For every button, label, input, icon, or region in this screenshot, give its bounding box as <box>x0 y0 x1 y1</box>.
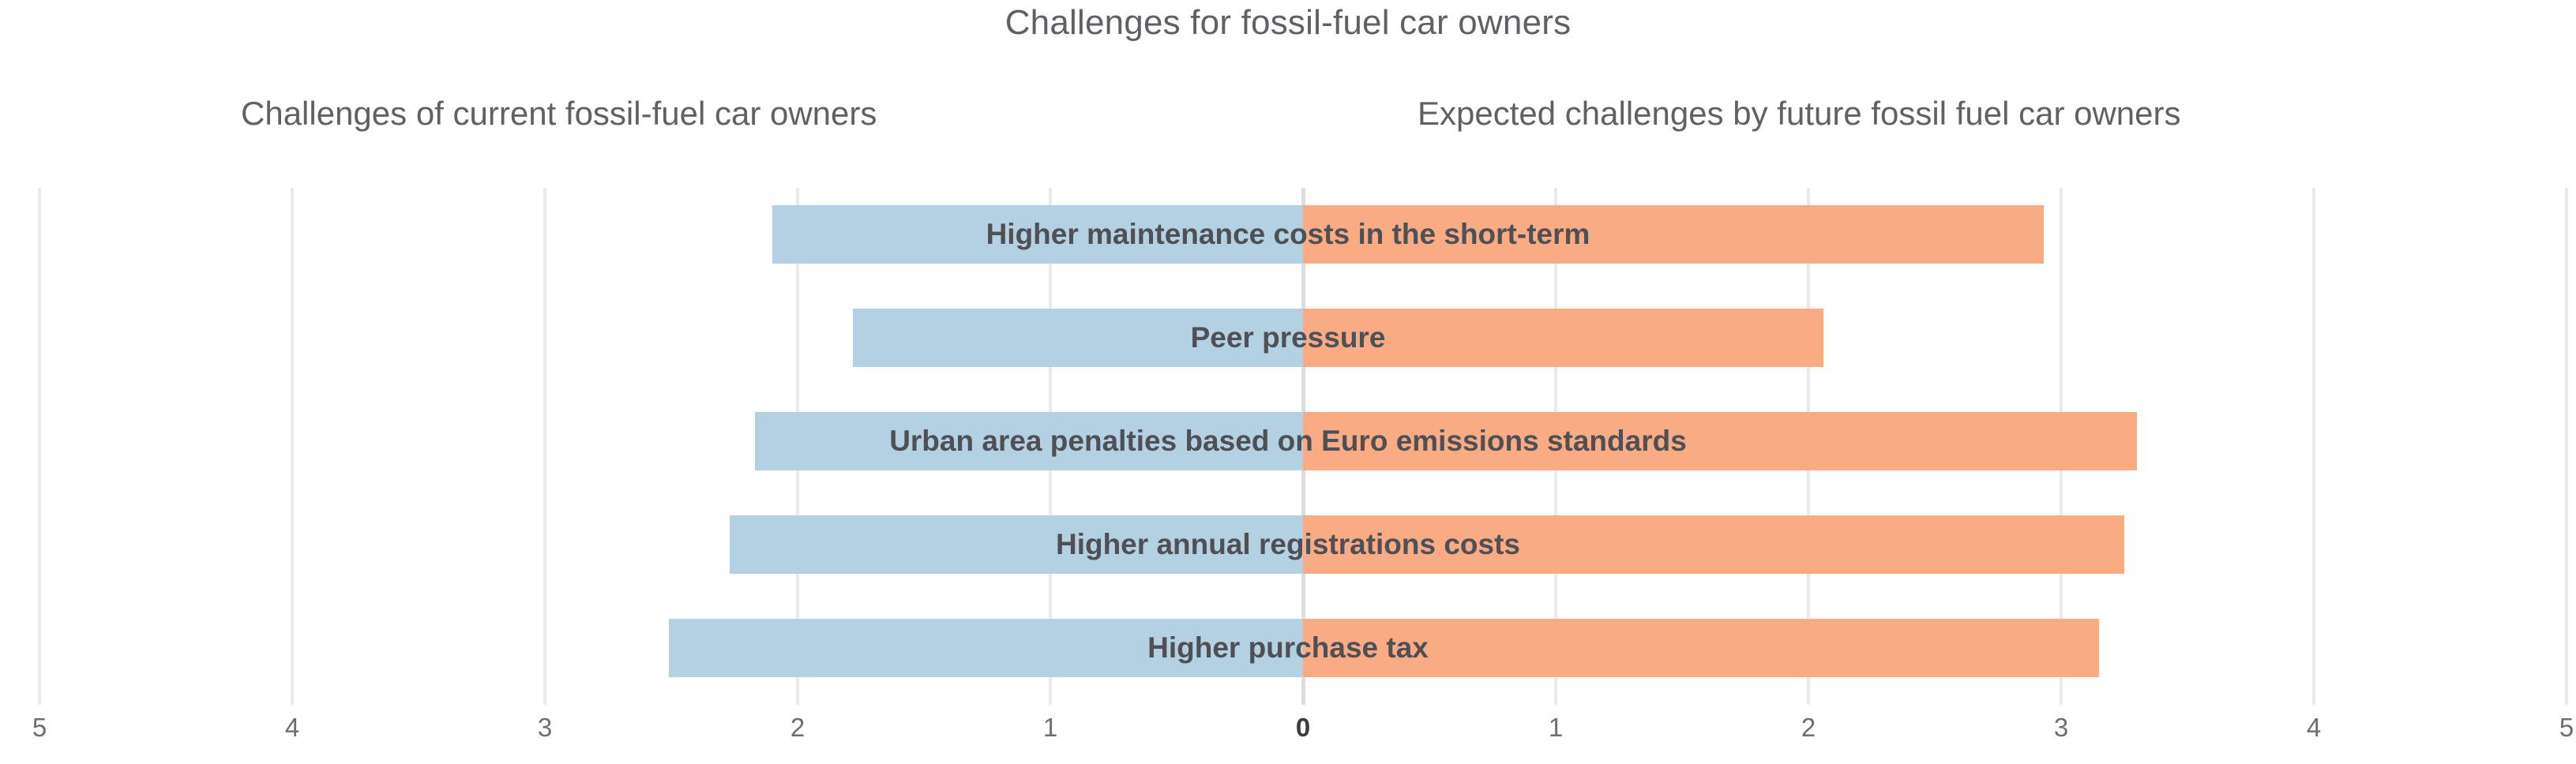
x-tick-right-3: 3 <box>2054 713 2068 743</box>
bar-row: Higher annual registrations costs <box>0 498 2576 601</box>
x-tick-right-4: 4 <box>2307 713 2321 743</box>
x-tick-right-5: 5 <box>2559 713 2574 743</box>
bar-row: Urban area penalties based on Euro emiss… <box>0 395 2576 498</box>
x-tick-left-0: 0 <box>1296 713 1310 743</box>
legend-label-right: Expected challenges by future fossil fue… <box>1418 95 2181 133</box>
bar-left[interactable] <box>853 309 1303 367</box>
bar-left[interactable] <box>772 205 1303 264</box>
x-tick-right-2: 2 <box>1801 713 1816 743</box>
plot-area: Higher maintenance costs in the short-te… <box>0 188 2576 705</box>
x-tick-left-3: 3 <box>538 713 552 743</box>
bar-right[interactable] <box>1303 309 1823 367</box>
x-tick-left-4: 4 <box>285 713 299 743</box>
bar-left[interactable] <box>755 412 1303 470</box>
x-axis: 54321012345 <box>0 705 2576 764</box>
bar-right[interactable] <box>1303 619 2099 677</box>
x-tick-left-5: 5 <box>32 713 47 743</box>
bar-right[interactable] <box>1303 205 2044 264</box>
subtitle-row: Challenges of current fossil-fuel car ow… <box>0 95 2576 142</box>
bar-left[interactable] <box>669 619 1303 677</box>
bar-row: Peer pressure <box>0 291 2576 395</box>
bar-row: Higher purchase tax <box>0 601 2576 705</box>
x-tick-right-1: 1 <box>1549 713 1563 743</box>
bar-right[interactable] <box>1303 412 2137 470</box>
legend-label-left: Challenges of current fossil-fuel car ow… <box>241 95 877 133</box>
x-tick-left-2: 2 <box>790 713 805 743</box>
chart-title: Challenges for fossil-fuel car owners <box>0 3 2576 43</box>
bar-row: Higher maintenance costs in the short-te… <box>0 188 2576 291</box>
bar-left[interactable] <box>730 515 1303 574</box>
x-tick-left-1: 1 <box>1043 713 1057 743</box>
bar-right[interactable] <box>1303 515 2124 574</box>
